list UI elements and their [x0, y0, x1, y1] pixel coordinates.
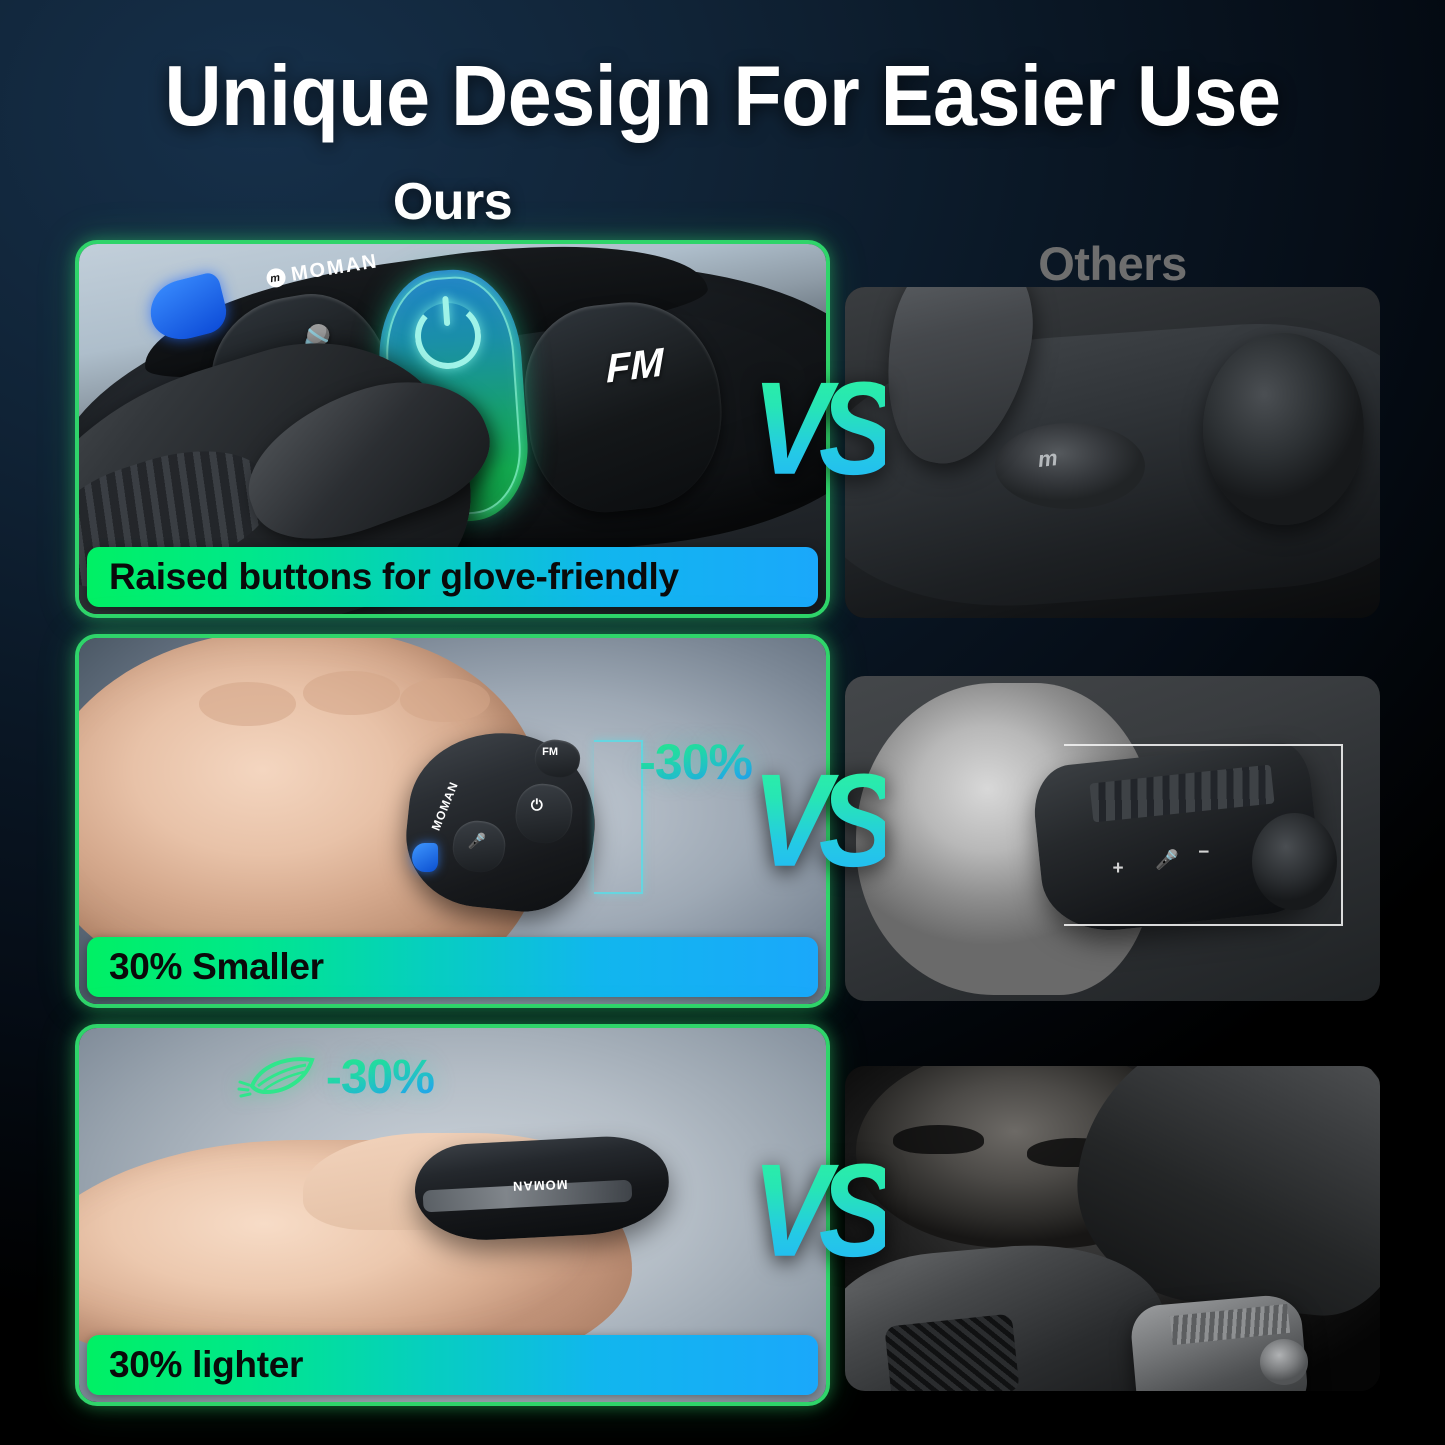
feather-icon [236, 1052, 322, 1104]
moman-mark-icon: m [265, 267, 287, 289]
vs-badge-row-3: VS [752, 1145, 885, 1277]
measurement-bracket [594, 740, 643, 894]
power-icon: ⏻ [531, 797, 543, 814]
button-mark-icon: m [1036, 445, 1058, 473]
others-photo-rider-helmet [845, 1066, 1380, 1391]
ours-panel-row-3[interactable]: MOMAN -30% 30% lighter [75, 1024, 830, 1406]
others-panel-row-3[interactable] [845, 1066, 1380, 1391]
others-panel-row-1[interactable]: m [845, 287, 1380, 618]
caption-bar-row-2: 30% Smaller [87, 937, 818, 997]
vs-badge-row-2: VS [752, 755, 885, 887]
others-photo-bulky-device: + 🎤 − [845, 676, 1380, 1001]
infographic-canvas: Unique Design For Easier Use Ours Others… [0, 0, 1445, 1445]
ours-panel-row-2[interactable]: MOMAN 🎤 ⏻ FM -30% 30% Smaller [75, 634, 830, 1008]
device-brand-logo: MOMAN [512, 1177, 568, 1194]
others-panel-row-2[interactable]: + 🎤 − [845, 676, 1380, 1001]
column-header-ours: Ours [75, 172, 830, 232]
fm-label: FM [542, 746, 558, 758]
intercom-dial [1260, 1339, 1308, 1385]
weight-reduction-annotation: -30% [326, 1050, 434, 1105]
rotary-knob [1203, 333, 1364, 525]
helmet-vent-grill [884, 1313, 1020, 1391]
flush-button [995, 423, 1145, 509]
others-photo-flush-button: m [845, 287, 1380, 618]
caption-bar-row-3: 30% lighter [87, 1335, 818, 1395]
fm-label: FM [605, 340, 663, 392]
mic-icon: 🎤 [467, 832, 486, 850]
caption-bar-row-1: Raised buttons for glove-friendly [87, 547, 818, 607]
weight-annotation-group: -30% [236, 1050, 434, 1105]
column-header-others: Others [845, 236, 1380, 291]
vs-badge-row-1: VS [752, 363, 885, 495]
blue-led-accent [412, 843, 437, 872]
size-reduction-annotation: -30% [639, 733, 752, 791]
page-title: Unique Design For Easier Use [51, 48, 1395, 146]
ours-panel-row-1[interactable]: m MOMAN 🎤 FM Raised buttons for glove-fr… [75, 240, 830, 618]
measurement-bracket [1064, 744, 1342, 926]
